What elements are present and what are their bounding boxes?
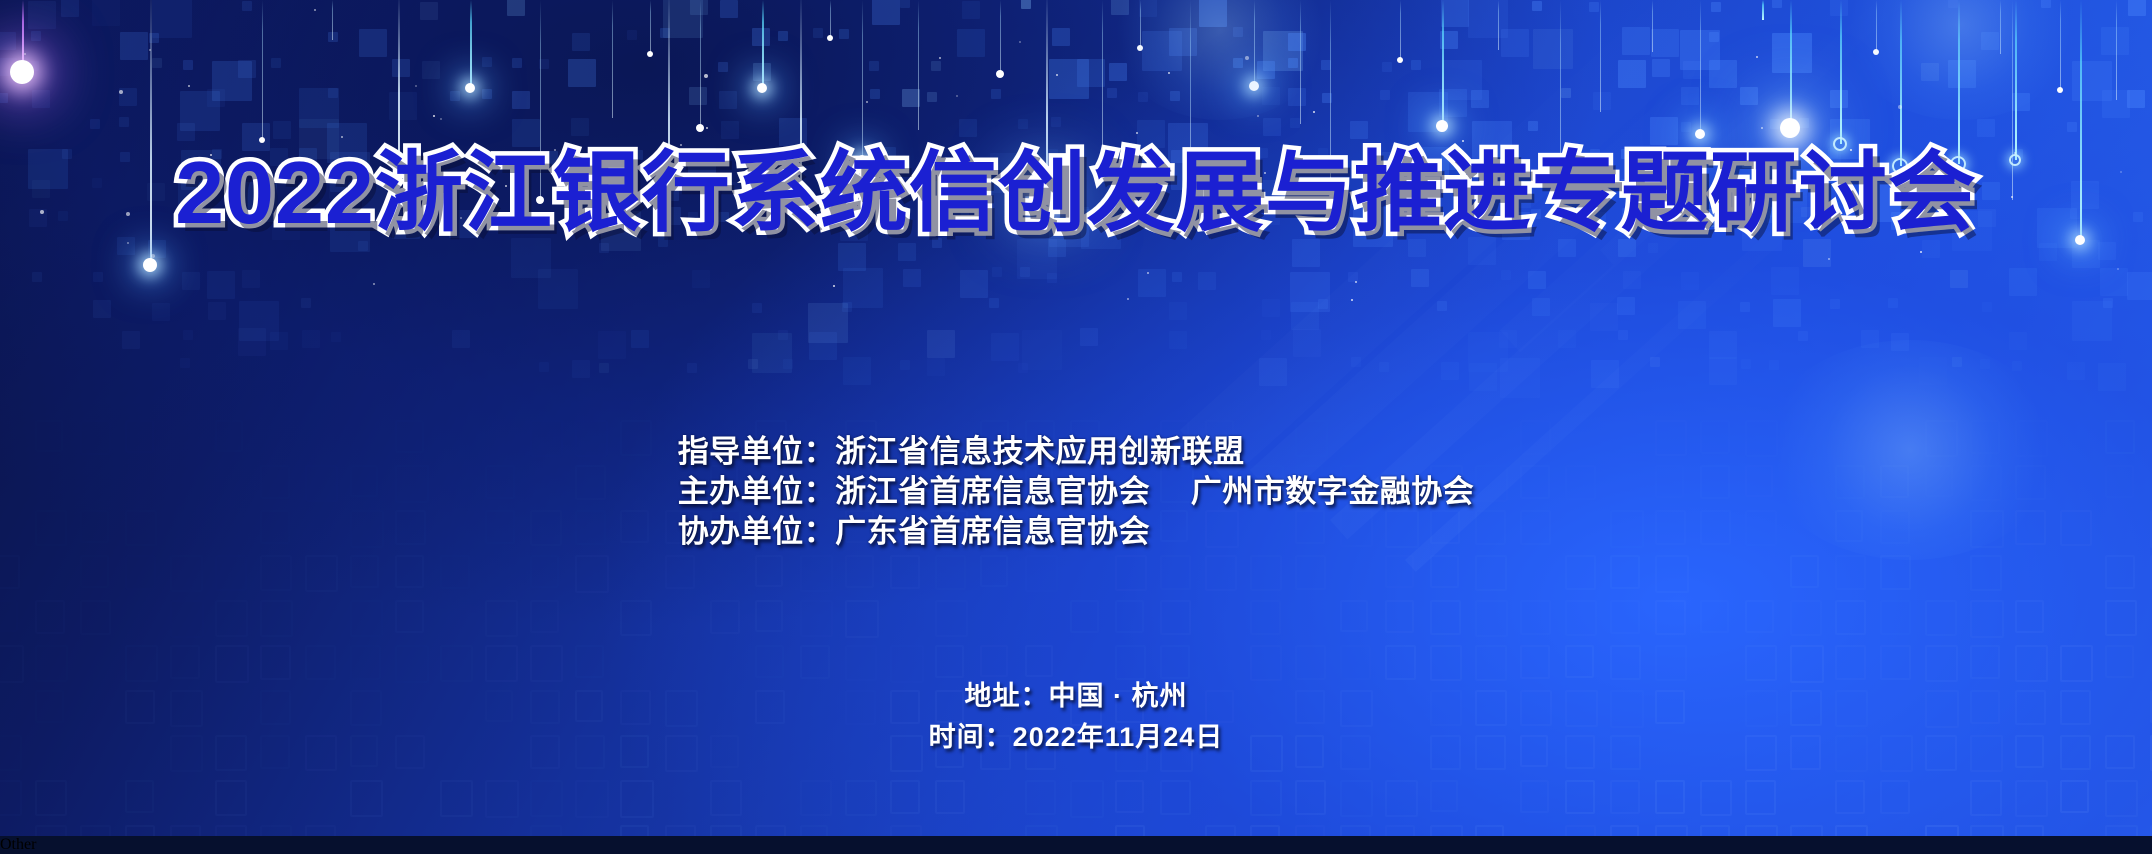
host-unit-line: 主办单位：浙江省首席信息官协会 广州市数字金融协会 xyxy=(678,472,1475,512)
guiding-unit-line: 指导单位：浙江省信息技术应用创新联盟 xyxy=(678,432,1475,472)
conference-poster: 2022浙江银行系统信创发展与推进专题研讨会 指导单位：浙江省信息技术应用创新联… xyxy=(0,0,2152,836)
event-meta-container: 地址：中国 · 杭州 时间：2022年11月24日 xyxy=(0,676,2152,758)
poster-title: 2022浙江银行系统信创发展与推进专题研讨会 xyxy=(175,146,1977,239)
organizations-container: 指导单位：浙江省信息技术应用创新联盟 主办单位：浙江省首席信息官协会 广州市数字… xyxy=(0,432,2152,552)
poster-title-container: 2022浙江银行系统信创发展与推进专题研讨会 xyxy=(0,146,2152,239)
event-location: 地址：中国 · 杭州 xyxy=(0,676,2152,717)
event-date: 时间：2022年11月24日 xyxy=(0,717,2152,758)
co-organizer-unit-line: 协办单位：广东省首席信息官协会 xyxy=(678,512,1475,552)
